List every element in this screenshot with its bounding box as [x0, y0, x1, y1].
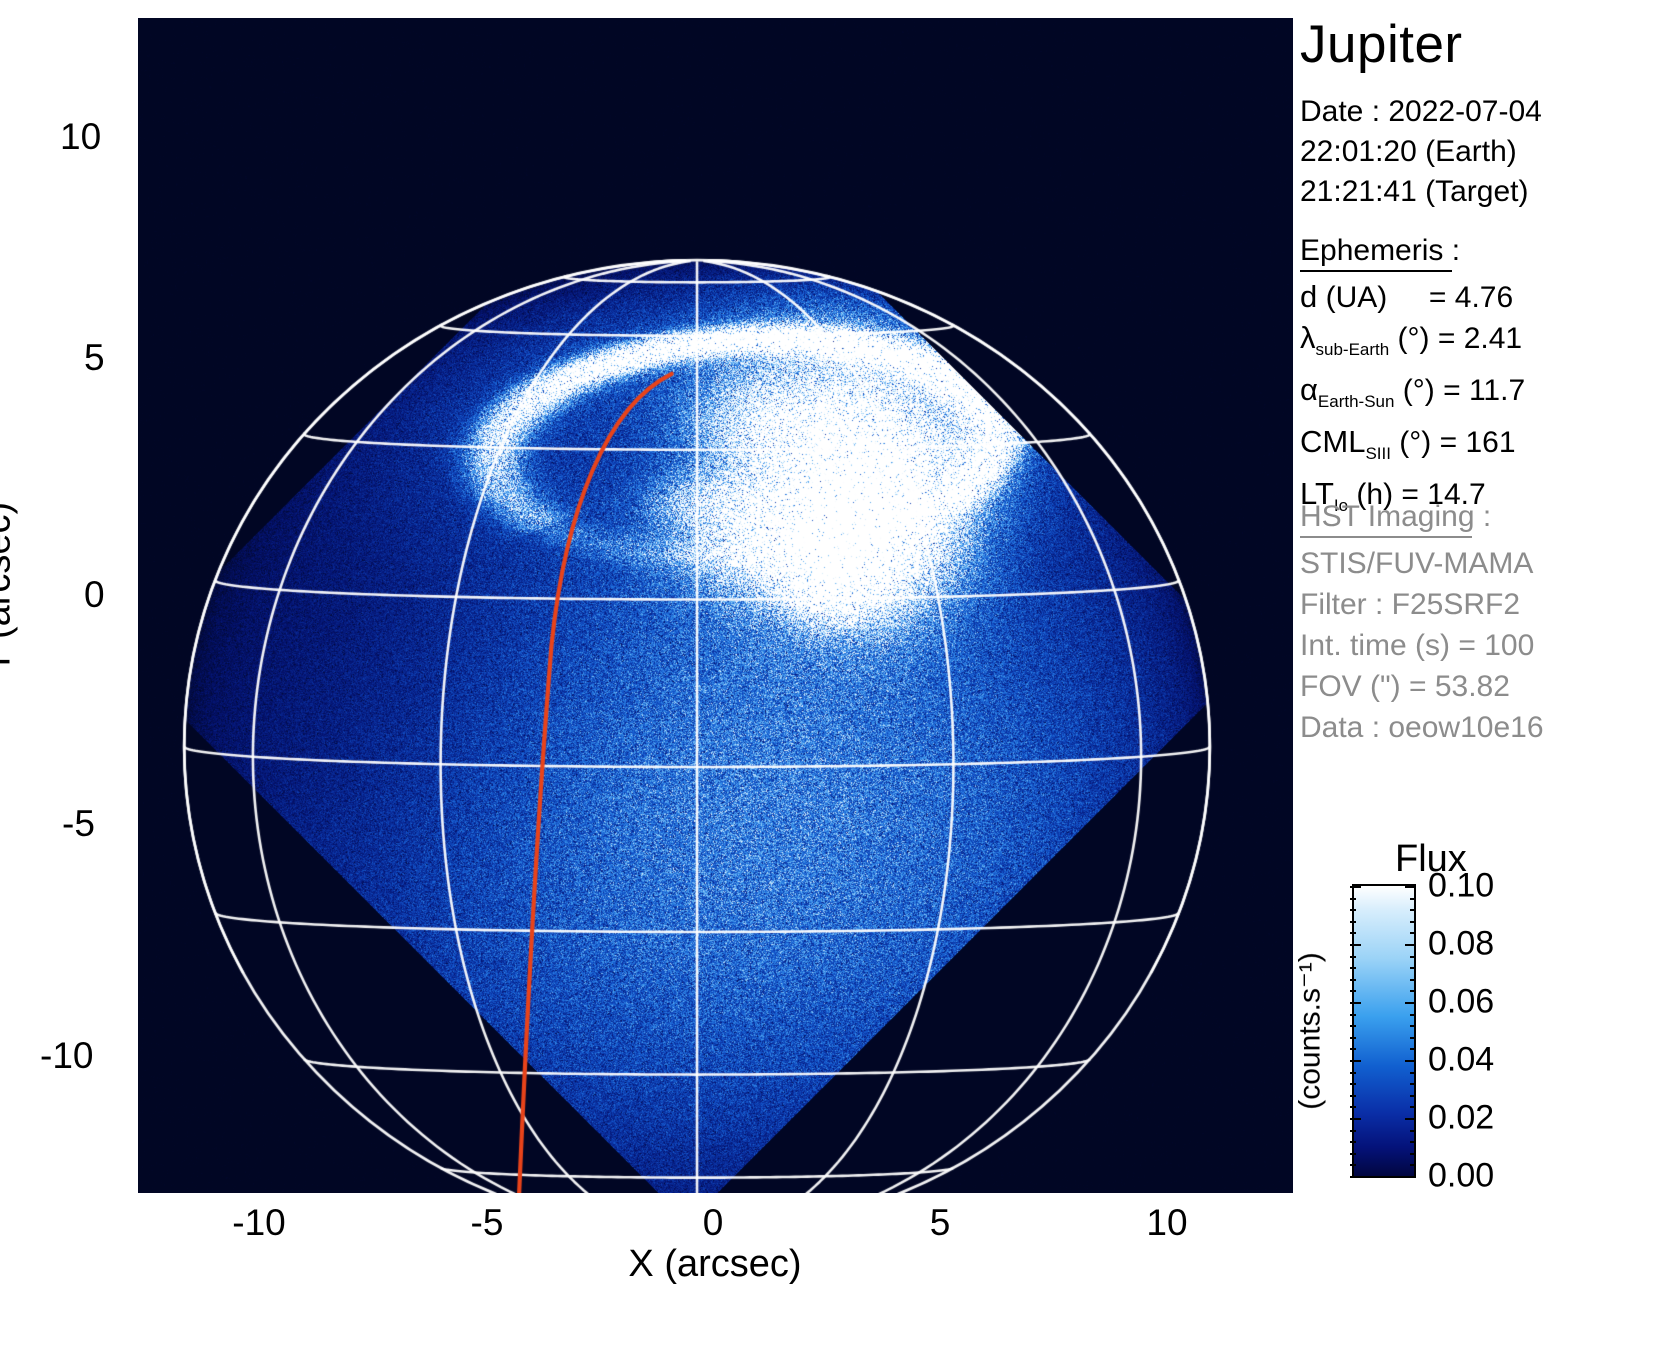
colorbar-minor-tick — [1350, 1141, 1356, 1143]
colorbar-tick-mark — [1405, 886, 1416, 888]
colorbar-unit-label: (counts.s⁻¹) — [1293, 952, 1328, 1110]
colorbar-minor-tick — [1410, 979, 1416, 981]
colorbar-minor-tick — [1410, 1083, 1416, 1085]
date-block: Date : 2022-07-04 22:01:20 (Earth) 21:21… — [1300, 92, 1542, 212]
ephemeris-underline — [1300, 270, 1452, 272]
ephemeris-subscript: SIII — [1365, 444, 1391, 463]
ephemeris-row-0: d (UA) = 4.76 — [1300, 277, 1525, 318]
colorbar-minor-tick — [1410, 1141, 1416, 1143]
hst-imaging-row-4: Data : oeow10e16 — [1300, 707, 1544, 748]
x-tick-label--5: -5 — [471, 1202, 504, 1244]
colorbar-minor-tick — [1350, 1025, 1356, 1027]
y-tick-label--5: -5 — [62, 803, 95, 845]
colorbar-tick-mark — [1405, 1176, 1416, 1178]
colorbar-minor-tick — [1350, 1072, 1356, 1074]
hst-imaging-row-0: STIS/FUV-MAMA — [1300, 543, 1544, 584]
x-tick-label--10: -10 — [232, 1202, 285, 1244]
ephemeris-block: Ephemeris : d (UA) = 4.76λsub-Earth (°) … — [1300, 234, 1525, 526]
colorbar-minor-tick — [1410, 1048, 1416, 1050]
colorbar-minor-tick — [1350, 898, 1356, 900]
colorbar-tick-mark — [1350, 1176, 1361, 1178]
colorbar-tick-mark — [1350, 1060, 1361, 1062]
colorbar-minor-tick — [1410, 1072, 1416, 1074]
colorbar-tick-mark — [1350, 1118, 1361, 1120]
colorbar-minor-tick — [1350, 932, 1356, 934]
info-panel: Jupiter Date : 2022-07-04 22:01:20 (Eart… — [1300, 0, 1677, 1367]
ephemeris-row-1: λsub-Earth (°) = 2.41 — [1300, 318, 1525, 370]
colorbar-minor-tick — [1350, 1083, 1356, 1085]
aurora-image-plot — [138, 18, 1293, 1193]
hst-imaging-underline — [1300, 536, 1472, 538]
ephemeris-value: (UA) = 4.76 — [1317, 281, 1513, 314]
ephemeris-symbol: α — [1300, 372, 1318, 407]
colorbar-minor-tick — [1410, 1095, 1416, 1097]
hst-imaging-block: HST Imaging : STIS/FUV-MAMAFilter : F25S… — [1300, 500, 1544, 748]
colorbar-tick-mark — [1405, 1060, 1416, 1062]
hst-imaging-row-3: FOV (") = 53.82 — [1300, 666, 1544, 707]
y-tick-label-0: 0 — [84, 574, 105, 616]
colorbar-minor-tick — [1410, 898, 1416, 900]
y-tick-label--10: -10 — [40, 1035, 93, 1077]
ephemeris-value: (°) = 2.41 — [1389, 322, 1522, 355]
colorbar-minor-tick — [1410, 956, 1416, 958]
colorbar-minor-tick — [1410, 967, 1416, 969]
colorbar-tick-mark — [1350, 944, 1361, 946]
colorbar-minor-tick — [1350, 1106, 1356, 1108]
x-tick-label-0: 0 — [703, 1202, 724, 1244]
colorbar-minor-tick — [1410, 1164, 1416, 1166]
colorbar-minor-tick — [1350, 1095, 1356, 1097]
colorbar-minor-tick — [1410, 1014, 1416, 1016]
colorbar-minor-tick — [1350, 979, 1356, 981]
colorbar-minor-tick — [1410, 1037, 1416, 1039]
colorbar-tick-mark — [1405, 1002, 1416, 1004]
colorbar-tick-mark — [1405, 1118, 1416, 1120]
ephemeris-value: (°) = 161 — [1391, 426, 1516, 459]
y-axis-title: Y (arcsec) — [0, 388, 20, 788]
colorbar-tick-label-1: 0.08 — [1428, 925, 1494, 964]
colorbar-minor-tick — [1350, 1037, 1356, 1039]
colorbar-minor-tick — [1350, 1164, 1356, 1166]
date-line-1: Date : 2022-07-04 — [1300, 92, 1542, 132]
colorbar-minor-tick — [1350, 921, 1356, 923]
ephemeris-symbol: CML — [1300, 424, 1365, 459]
colorbar-minor-tick — [1350, 967, 1356, 969]
ephemeris-row-3: CMLSIII (°) = 161 — [1300, 422, 1525, 474]
colorbar-minor-tick — [1410, 909, 1416, 911]
ephemeris-value: (°) = 11.7 — [1394, 374, 1525, 407]
colorbar-minor-tick — [1410, 921, 1416, 923]
colorbar-tick-label-4: 0.02 — [1428, 1099, 1494, 1138]
colorbar-minor-tick — [1350, 1130, 1356, 1132]
date-line-3: 21:21:41 (Target) — [1300, 172, 1542, 212]
flux-colorbar — [1352, 884, 1416, 1178]
ephemeris-subscript: sub-Earth — [1316, 340, 1390, 359]
colorbar-minor-tick — [1350, 1153, 1356, 1155]
colorbar-tick-label-5: 0.00 — [1428, 1157, 1494, 1196]
hst-imaging-row-2: Int. time (s) = 100 — [1300, 625, 1544, 666]
hst-imaging-row-1: Filter : F25SRF2 — [1300, 584, 1544, 625]
colorbar-minor-tick — [1410, 1025, 1416, 1027]
date-line-2: 22:01:20 (Earth) — [1300, 132, 1542, 172]
hst-imaging-rows: STIS/FUV-MAMAFilter : F25SRF2Int. time (… — [1300, 543, 1544, 748]
ephemeris-symbol: λ — [1300, 320, 1316, 355]
colorbar-tick-label-0: 0.10 — [1428, 867, 1494, 906]
colorbar-minor-tick — [1350, 956, 1356, 958]
colorbar-minor-tick — [1350, 1048, 1356, 1050]
ephemeris-subscript: Earth-Sun — [1318, 392, 1395, 411]
x-axis-title: X (arcsec) — [628, 1243, 801, 1286]
x-tick-label-10: 10 — [1146, 1202, 1187, 1244]
y-tick-label-10: 10 — [60, 116, 101, 158]
colorbar-tick-mark — [1350, 1002, 1361, 1004]
y-tick-label-5: 5 — [84, 337, 105, 379]
colorbar-minor-tick — [1410, 932, 1416, 934]
colorbar-minor-tick — [1410, 990, 1416, 992]
colorbar-tick-label-2: 0.06 — [1428, 983, 1494, 1022]
colorbar-tick-mark — [1350, 886, 1361, 888]
colorbar-minor-tick — [1410, 1106, 1416, 1108]
colorbar-minor-tick — [1350, 1014, 1356, 1016]
colorbar-tick-mark — [1405, 944, 1416, 946]
ephemeris-heading: Ephemeris : — [1300, 234, 1525, 268]
page-title: Jupiter — [1300, 14, 1463, 75]
colorbar-minor-tick — [1350, 990, 1356, 992]
colorbar-minor-tick — [1410, 1153, 1416, 1155]
colorbar-tick-label-3: 0.04 — [1428, 1041, 1494, 1080]
x-tick-label-5: 5 — [930, 1202, 951, 1244]
ephemeris-symbol: d — [1300, 279, 1317, 314]
colorbar-minor-tick — [1410, 1130, 1416, 1132]
ephemeris-rows: d (UA) = 4.76λsub-Earth (°) = 2.41αEarth… — [1300, 277, 1525, 526]
colorbar-minor-tick — [1350, 909, 1356, 911]
hst-imaging-heading: HST Imaging : — [1300, 500, 1544, 534]
jupiter-aurora-canvas — [138, 18, 1293, 1193]
ephemeris-row-2: αEarth-Sun (°) = 11.7 — [1300, 370, 1525, 422]
